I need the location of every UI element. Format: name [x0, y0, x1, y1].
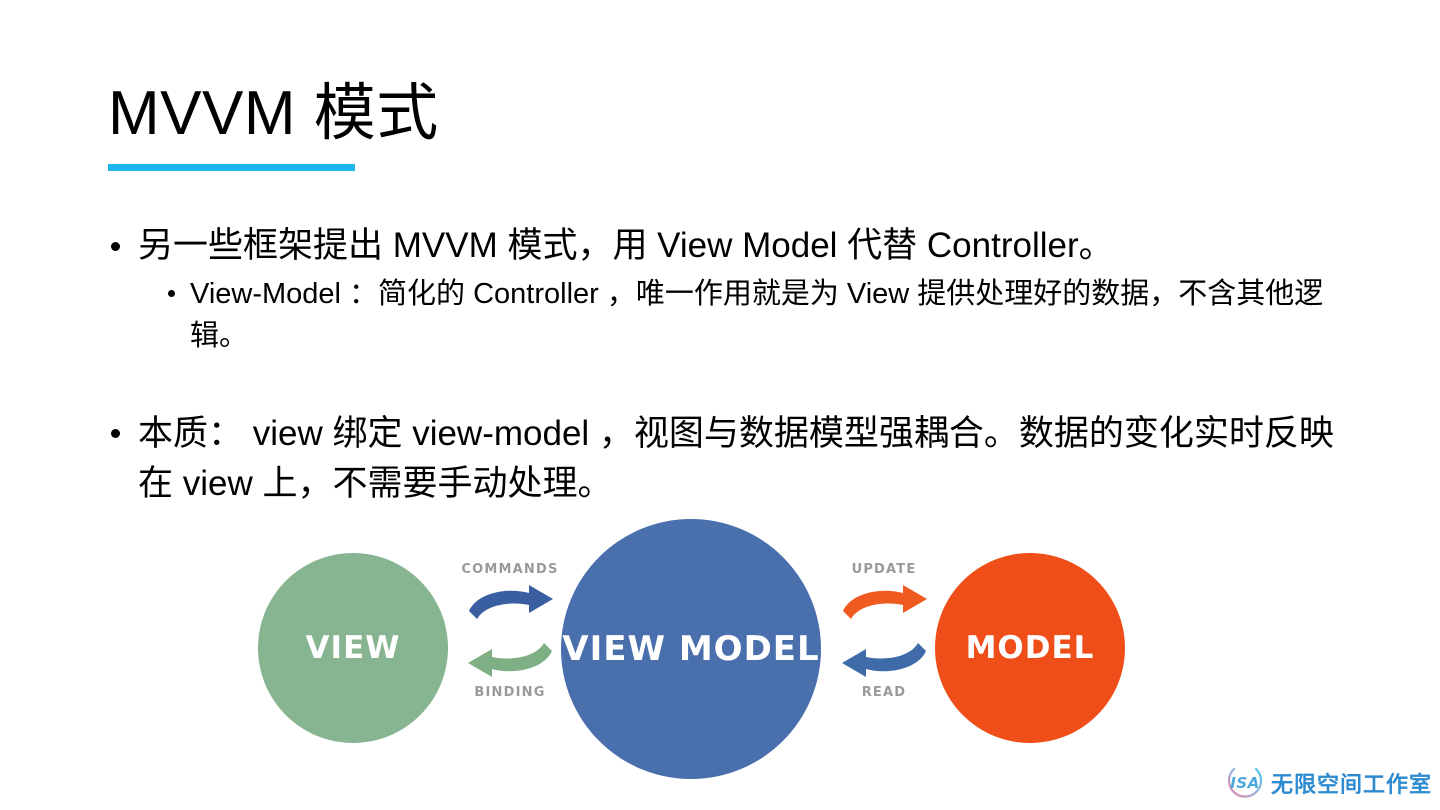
arrow-left-binding-icon	[463, 633, 558, 681]
logo-initials: ISA	[1230, 774, 1260, 792]
bullet-text: 另一些框架提出 MVVM 模式，用 View Model 代替 Controll…	[138, 226, 1114, 265]
slide-canvas: MVVM 模式 另一些框架提出 MVVM 模式，用 View Model 代替 …	[0, 0, 1440, 810]
flow-label-commands: COMMANDS	[450, 562, 570, 577]
arrow-left-read-icon	[837, 633, 932, 681]
title-underline-bar	[108, 164, 355, 171]
bullet-item-primary-2: 本质： view 绑定 view-model ，视图与数据模型强耦合。数据的变化…	[108, 409, 1336, 509]
diagram-flow-view-viewmodel: COMMANDS BINDING	[450, 562, 570, 700]
diagram-node-model: MODEL	[935, 553, 1125, 743]
body-content: 另一些框架提出 MVVM 模式，用 View Model 代替 Controll…	[108, 222, 1336, 511]
diagram-node-label: MODEL	[966, 630, 1095, 666]
mvvm-flow-diagram: VIEW COMMANDS BINDING VIEW MODEL UPDATE …	[250, 516, 1140, 796]
bullet-dot-icon	[111, 242, 120, 251]
logo-badge: ISA	[1226, 764, 1264, 802]
flow-label-binding: BINDING	[450, 685, 570, 700]
sub-bullet-group: View-Model ：简化的 Controller ，唯一作用就是为 View…	[108, 273, 1336, 357]
bullet-dot-icon	[111, 429, 120, 438]
arrow-right-update-icon	[837, 581, 932, 629]
title-block: MVVM 模式	[108, 78, 1308, 171]
arrow-right-commands-icon	[463, 581, 558, 629]
bullet-item-primary-1: 另一些框架提出 MVVM 模式，用 View Model 代替 Controll…	[108, 222, 1336, 269]
diagram-node-label: VIEW	[306, 630, 401, 666]
bullet-item-secondary-1: View-Model ：简化的 Controller ，唯一作用就是为 View…	[164, 273, 1336, 357]
bullet-dot-icon	[168, 290, 175, 297]
bullet-text: 本质： view 绑定 view-model ，视图与数据模型强耦合。数据的变化…	[138, 414, 1334, 503]
bullet-text: View-Model ：简化的 Controller ，唯一作用就是为 View…	[190, 278, 1323, 352]
bullet-spacer	[108, 357, 1336, 409]
diagram-flow-viewmodel-model: UPDATE READ	[824, 562, 944, 700]
diagram-node-view-model: VIEW MODEL	[561, 519, 821, 779]
flow-label-read: READ	[824, 685, 944, 700]
diagram-node-view: VIEW	[258, 553, 448, 743]
flow-label-update: UPDATE	[824, 562, 944, 577]
logo-text: 无限空间工作室	[1271, 767, 1432, 799]
diagram-node-label: VIEW MODEL	[562, 629, 819, 669]
watermark-logo: ISA 无限空间工作室	[1226, 764, 1432, 802]
page-title: MVVM 模式	[108, 78, 1308, 150]
